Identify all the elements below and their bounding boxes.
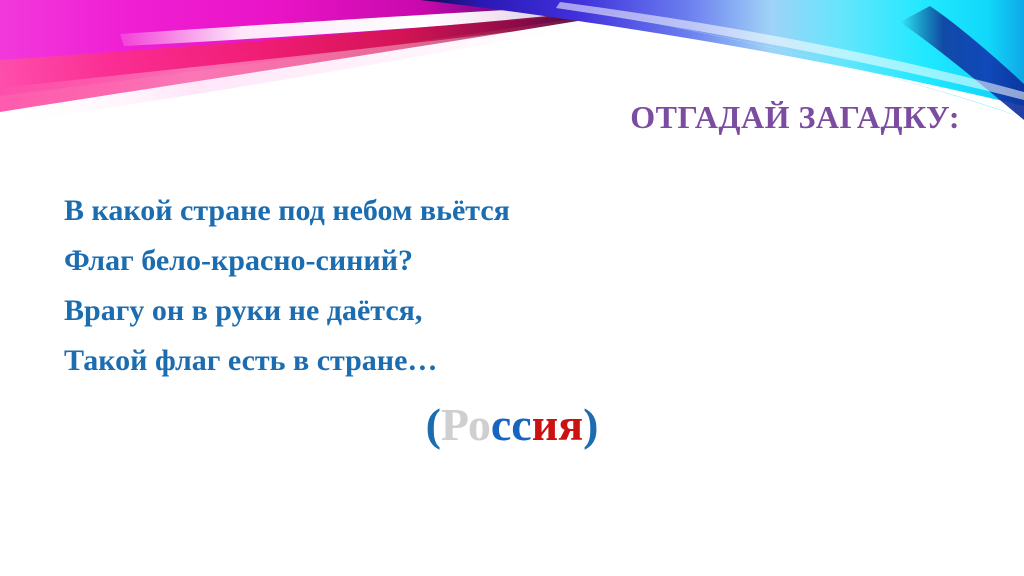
answer-paren-open: ( bbox=[426, 399, 441, 450]
answer-text: (Россия) bbox=[0, 398, 1024, 451]
riddle-text-block: В какой стране под небом вьётся Флаг бел… bbox=[64, 186, 944, 386]
answer-segment-red: ия bbox=[532, 399, 583, 450]
answer-paren-close: ) bbox=[583, 399, 598, 450]
answer-segment-white: Ро bbox=[441, 399, 491, 450]
riddle-line-3: Врагу он в руки не даётся, bbox=[64, 286, 944, 336]
page-title: ОТГАДАЙ ЗАГАДКУ: bbox=[0, 99, 960, 136]
slide-canvas: ОТГАДАЙ ЗАГАДКУ: В какой стране под небо… bbox=[0, 0, 1024, 576]
riddle-line-1: В какой стране под небом вьётся bbox=[64, 186, 944, 236]
riddle-line-4: Такой флаг есть в стране… bbox=[64, 336, 944, 386]
answer-segment-blue: сс bbox=[491, 399, 532, 450]
riddle-line-2: Флаг бело-красно-синий? bbox=[64, 236, 944, 286]
